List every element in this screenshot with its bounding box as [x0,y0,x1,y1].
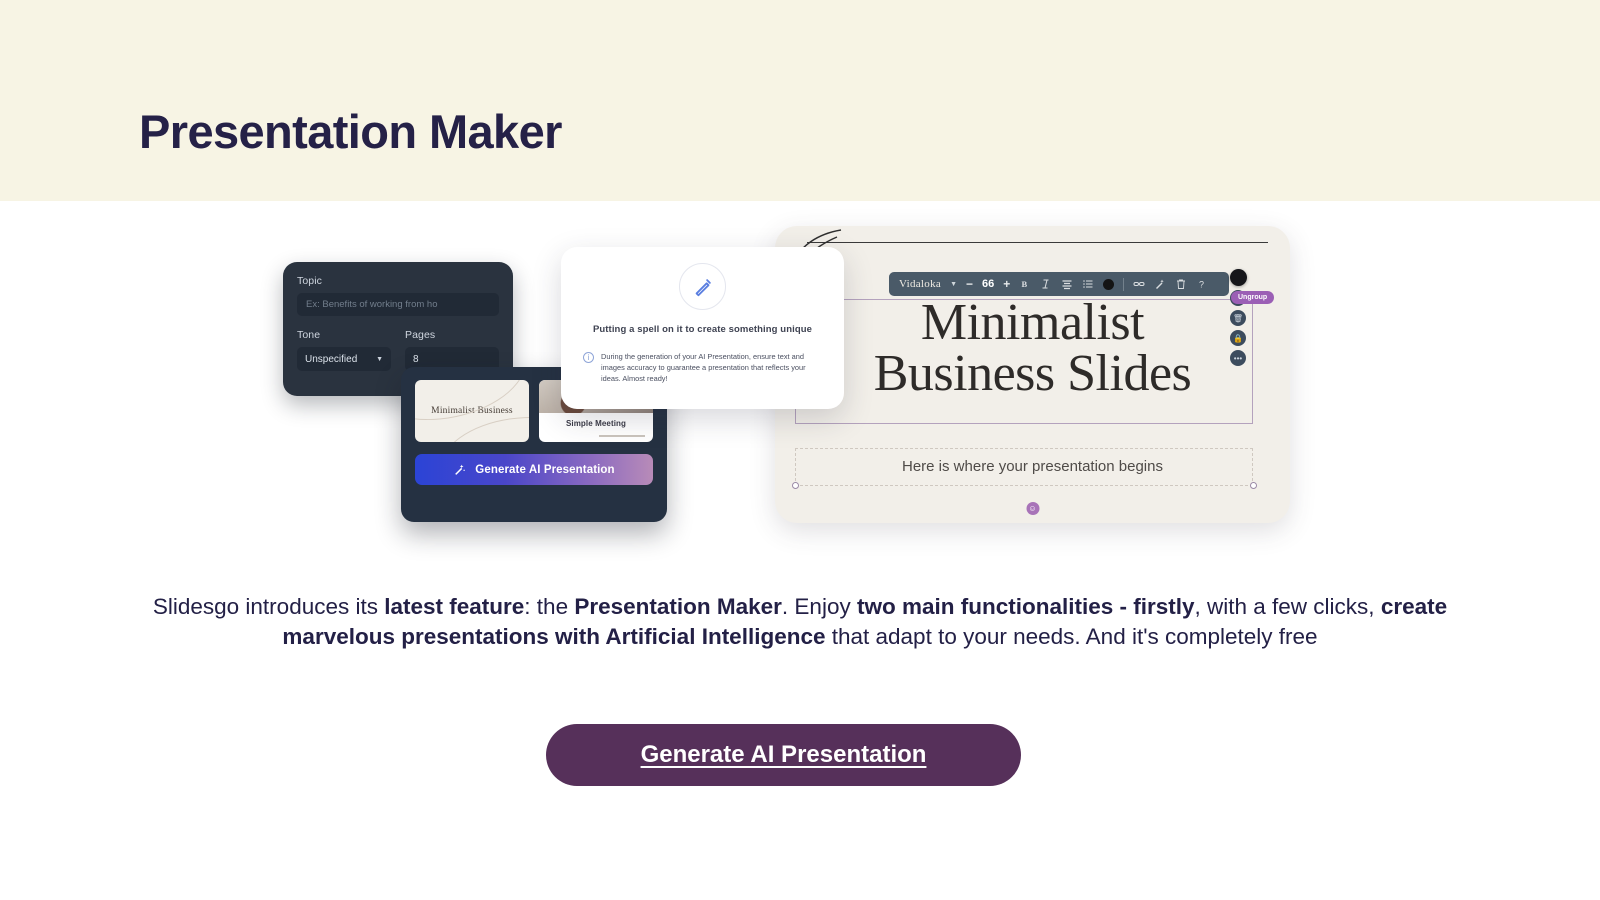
magic-wand-icon[interactable] [1154,278,1166,290]
modal-heading: Putting a spell on it to create somethin… [583,324,822,335]
lock-icon[interactable]: 🔒 [1230,330,1246,346]
selection-handle[interactable] [1250,482,1257,489]
ungroup-tooltip: Ungroup [1231,291,1274,304]
lede-part-3: . Enjoy [782,594,857,619]
text-format-toolbar[interactable]: Vidaloka ▼ − 66 + B ? [889,272,1229,296]
editor-top-rule [807,242,1268,243]
font-size-value[interactable]: 66 [982,278,994,290]
wand-icon-circle [679,263,726,310]
generate-ai-presentation-button[interactable]: Generate AI Presentation [546,724,1021,786]
tone-field: Tone Unspecified ▼ [297,329,391,371]
topic-input[interactable]: Ex: Benefits of working from ho [297,293,499,316]
pages-label: Pages [405,329,499,341]
hero-illustration: Topic Ex: Benefits of working from ho To… [0,201,1600,571]
svg-text:?: ? [1199,280,1204,290]
magic-wand-icon [453,463,466,476]
modal-note-text: During the generation of your AI Present… [601,351,822,384]
lede-bold-1: latest feature [384,594,524,619]
font-name[interactable]: Vidaloka [899,278,941,290]
italic-icon[interactable] [1040,278,1052,290]
page-title: Presentation Maker [139,104,562,159]
lede-part-1: Slidesgo introduces its [153,594,384,619]
help-icon[interactable]: ? [1196,278,1208,290]
text-color-icon[interactable] [1103,279,1114,290]
tone-value: Unspecified [305,354,357,365]
lede-part-5: that adapt to your needs. And it's compl… [825,624,1317,649]
slide-subtitle[interactable]: Here is where your presentation begins [775,458,1290,475]
thumbnail-title: Simple Meeting [566,419,626,428]
magic-wand-icon [692,276,714,298]
align-center-icon[interactable] [1061,278,1073,290]
header-band: Presentation Maker [0,0,1600,201]
lede-part-4: , with a few clicks, [1195,594,1381,619]
more-horizontal-icon[interactable]: ••• [1230,350,1246,366]
pages-field: Pages 8 [405,329,499,371]
lede-bold-3: two main functionalities - firstly [857,594,1195,619]
slide-title-line-one: Minimalist [775,298,1290,349]
pages-value: 8 [413,354,419,365]
selection-handle[interactable] [792,482,799,489]
form-row: Tone Unspecified ▼ Pages 8 [297,329,499,371]
trash-icon[interactable] [1175,278,1187,290]
thumbnail-rule [599,435,645,437]
generation-modal: Putting a spell on it to create somethin… [561,247,844,409]
info-circle-icon: i [583,352,594,363]
slide-title-line-two: Business Slides [775,349,1290,400]
tone-select[interactable]: Unspecified ▼ [297,347,391,371]
bold-icon[interactable]: B [1019,278,1031,290]
slide-editor: Vidaloka ▼ − 66 + B ? Minimalist Busines… [775,226,1290,523]
smiley-icon[interactable]: ☺ [1026,502,1039,515]
modal-note: i During the generation of your AI Prese… [583,351,822,384]
chevron-down-icon[interactable]: ▼ [950,281,957,288]
lede-bold-2: Presentation Maker [574,594,782,619]
lede-part-2: : the [524,594,574,619]
slide-thumbnail[interactable]: Minimalist Business [415,380,529,442]
topic-label: Topic [297,275,499,287]
color-swatch-icon[interactable] [1230,269,1247,286]
object-actions-rail: ▤ 🗑 🔒 ••• Ungroup [1227,269,1249,366]
toolbar-divider [1123,278,1124,291]
tone-label: Tone [297,329,391,341]
trash-icon[interactable]: 🗑 [1230,310,1246,326]
chevron-down-icon: ▼ [376,356,383,363]
bullet-list-icon[interactable] [1082,278,1094,290]
decrease-font-size-button[interactable]: − [966,277,973,291]
link-icon[interactable] [1133,278,1145,290]
slide-title[interactable]: Minimalist Business Slides [775,298,1290,400]
increase-font-size-button[interactable]: + [1003,277,1010,291]
generate-button-label: Generate AI Presentation [475,464,614,476]
lede-paragraph: Slidesgo introduces its latest feature: … [0,592,1600,653]
topic-placeholder: Ex: Benefits of working from ho [306,299,437,310]
svg-text:B: B [1022,279,1028,289]
generate-ai-presentation-button-inline[interactable]: Generate AI Presentation [415,454,653,485]
